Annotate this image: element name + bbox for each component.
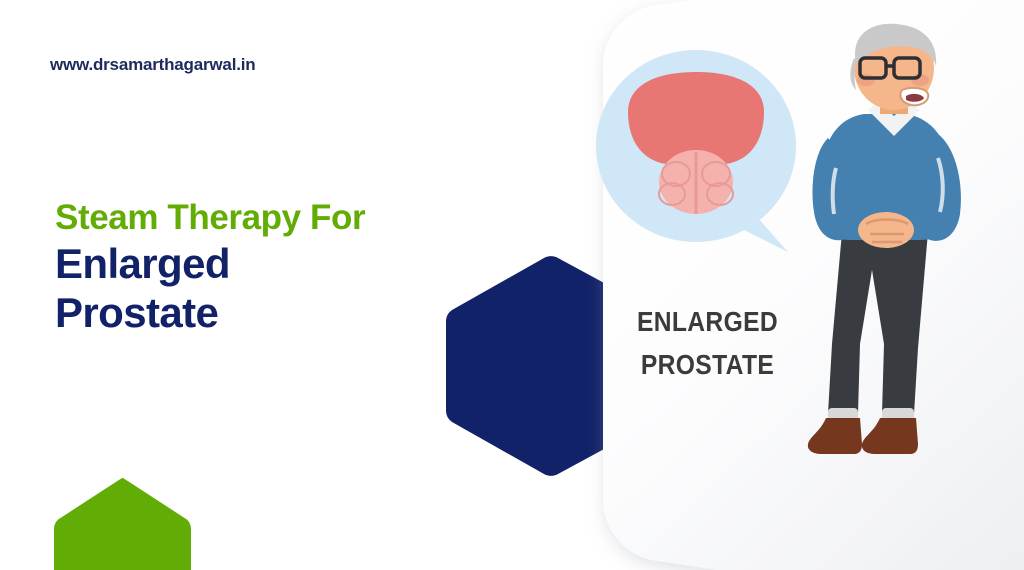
headline-line-2: Enlarged xyxy=(55,239,455,289)
headline-block: Steam Therapy For Enlarged Prostate xyxy=(55,198,455,338)
hands-shape xyxy=(858,212,914,248)
headline-line-3: Prostate xyxy=(55,288,455,338)
head-shape xyxy=(850,24,936,110)
headline-line-1: Steam Therapy For xyxy=(55,198,455,239)
site-url: www.drsamarthagarwal.in xyxy=(50,55,255,75)
shoe-left-shape xyxy=(808,418,862,454)
elderly-man-illustration xyxy=(798,18,993,458)
green-hexagon-decoration xyxy=(54,478,191,570)
shoe-right-shape xyxy=(862,418,918,454)
card-caption-line-2: PROSTATE xyxy=(613,343,802,386)
card-caption-line-1: ENLARGED xyxy=(613,300,802,343)
card-caption: ENLARGED PROSTATE xyxy=(613,300,802,387)
banner-canvas: www.drsamarthagarwal.in Steam Therapy Fo… xyxy=(0,0,1024,570)
prostate-gland-shape xyxy=(659,150,733,214)
prostate-speech-bubble-illustration xyxy=(592,42,812,272)
